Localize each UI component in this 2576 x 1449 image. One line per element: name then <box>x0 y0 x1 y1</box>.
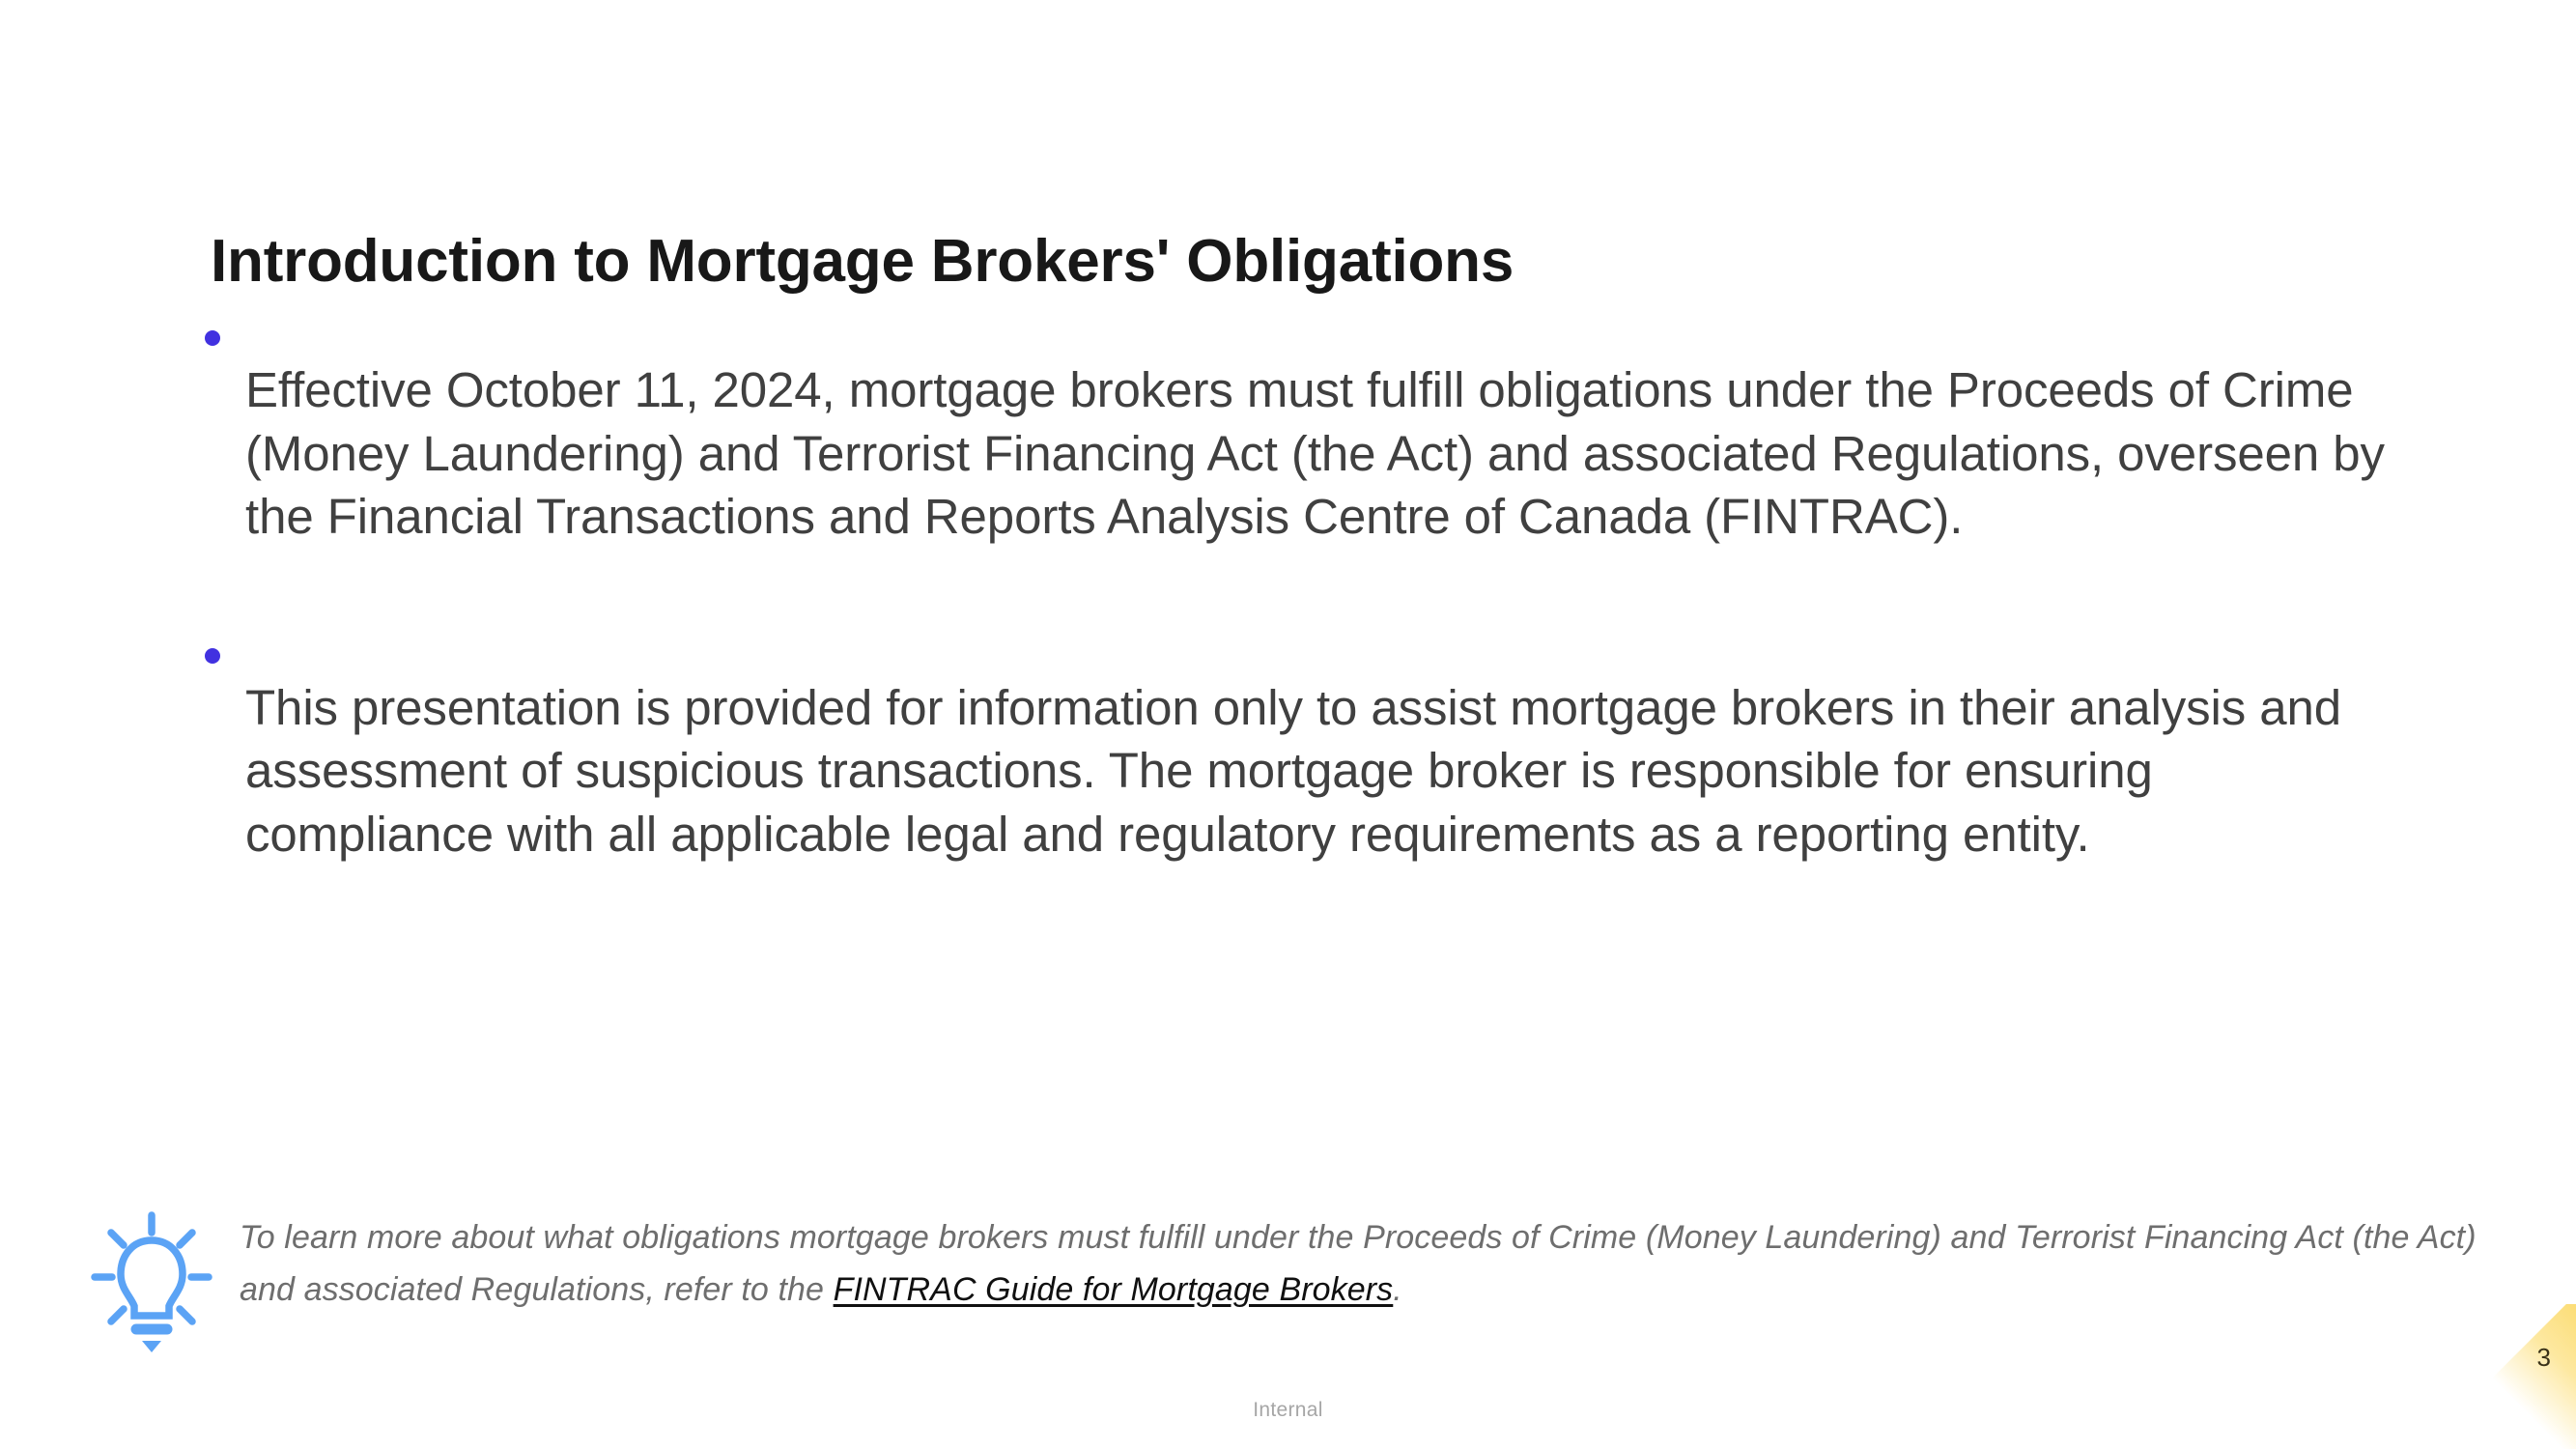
callout-trailing-text: . <box>1393 1271 1402 1308</box>
body-content: Effective October 11, 2024, mortgage bro… <box>189 309 2401 944</box>
classification-label: Internal <box>0 1399 2576 1422</box>
bullet-paragraph-2: This presentation is provided for inform… <box>245 676 2401 867</box>
fintrac-guide-link[interactable]: FINTRAC Guide for Mortgage Brokers <box>834 1271 1394 1308</box>
slide-canvas: Introduction to Mortgage Brokers' Obliga… <box>0 0 2576 1449</box>
bullet-marker <box>189 309 245 346</box>
page-number: 3 <box>2537 1343 2551 1373</box>
list-item: Effective October 11, 2024, mortgage bro… <box>189 309 2401 598</box>
bullet-paragraph-1: Effective October 11, 2024, mortgage bro… <box>245 358 2401 549</box>
callout-text: To learn more about what obligations mor… <box>240 1211 2484 1317</box>
bullet-dot-icon <box>205 648 220 664</box>
list-item: This presentation is provided for inform… <box>189 627 2401 916</box>
callout-note: To learn more about what obligations mor… <box>89 1207 2484 1364</box>
bullet-dot-icon <box>205 330 220 346</box>
badge-band-shape <box>2485 1304 2576 1449</box>
page-title: Introduction to Mortgage Brokers' Obliga… <box>211 230 2335 295</box>
lightbulb-icon <box>89 1209 214 1364</box>
bullet-marker <box>189 627 245 664</box>
